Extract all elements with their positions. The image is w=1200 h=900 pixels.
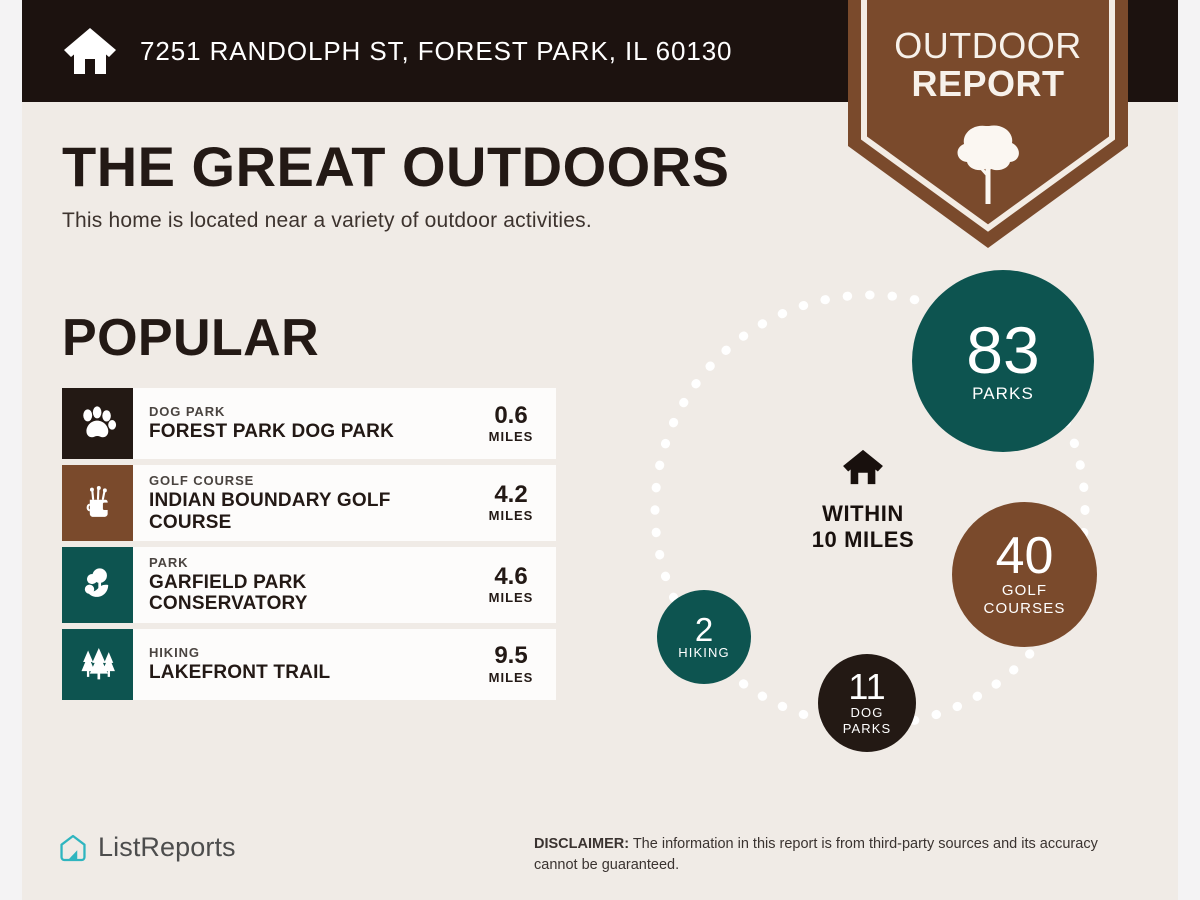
- home-icon: [778, 448, 948, 491]
- list-item-distance-value: 4.2: [480, 482, 542, 507]
- list-item-name: GARFIELD PARK CONSERVATORY: [149, 572, 470, 615]
- list-item[interactable]: GOLF COURSE INDIAN BOUNDARY GOLF COURSE …: [62, 465, 556, 541]
- title-block: THE GREAT OUTDOORS This home is located …: [62, 138, 730, 233]
- list-item-category: PARK: [149, 555, 470, 571]
- stat-label: HIKING: [678, 646, 729, 660]
- badge-line1: OUTDOOR: [894, 25, 1082, 66]
- stat-value: 40: [996, 532, 1054, 581]
- disclaimer-label: DISCLAIMER:: [534, 836, 629, 852]
- center-label-line1: WITHIN: [778, 501, 948, 527]
- stat-label-line2: COURSES: [984, 601, 1066, 617]
- stat-bubble-golf-courses[interactable]: 40 GOLF COURSES: [952, 502, 1097, 647]
- list-item-icon-tile: [62, 629, 133, 700]
- list-item-distance-unit: MILES: [480, 508, 542, 523]
- page-subtitle: This home is located near a variety of o…: [62, 209, 730, 233]
- list-item-name: INDIAN BOUNDARY GOLF COURSE: [149, 490, 470, 533]
- stat-value: 11: [848, 670, 885, 704]
- list-item-name: FOREST PARK DOG PARK: [149, 421, 394, 442]
- list-item-icon-tile: [62, 465, 133, 541]
- stat-bubble-dog-parks[interactable]: 11 DOG PARKS: [818, 654, 916, 752]
- badge-line2: REPORT: [911, 63, 1064, 104]
- list-item-body: DOG PARK FOREST PARK DOG PARK 0.6 MILES: [133, 388, 556, 459]
- disclaimer: DISCLAIMER: The information in this repo…: [534, 834, 1134, 876]
- park-trees-icon: [79, 568, 117, 602]
- list-item-distance: 4.2 MILES: [480, 482, 542, 523]
- stat-value: 2: [695, 614, 713, 645]
- list-item[interactable]: PARK GARFIELD PARK CONSERVATORY 4.6 MILE…: [62, 547, 556, 623]
- list-item-distance-value: 4.6: [480, 564, 542, 589]
- list-item-distance: 4.6 MILES: [480, 564, 542, 605]
- header-content: 7251 RANDOLPH ST, FOREST PARK, IL 60130: [62, 0, 732, 102]
- pine-trees-icon: [79, 647, 117, 682]
- stat-label-line1: DOG: [851, 706, 884, 720]
- list-item-icon-tile: [62, 388, 133, 459]
- list-item-icon-tile: [62, 547, 133, 623]
- list-item-body: HIKING LAKEFRONT TRAIL 9.5 MILES: [133, 629, 556, 700]
- list-item-category: HIKING: [149, 645, 330, 661]
- list-item-body: PARK GARFIELD PARK CONSERVATORY 4.6 MILE…: [133, 547, 556, 623]
- list-item[interactable]: HIKING LAKEFRONT TRAIL 9.5 MILES: [62, 629, 556, 700]
- list-item-distance: 9.5 MILES: [480, 643, 542, 684]
- stat-bubble-hiking[interactable]: 2 HIKING: [657, 590, 751, 684]
- page-title: THE GREAT OUTDOORS: [62, 138, 730, 197]
- listreports-wordmark: ListReports: [98, 832, 236, 863]
- popular-heading: POPULAR: [62, 308, 319, 368]
- property-address: 7251 RANDOLPH ST, FOREST PARK, IL 60130: [140, 36, 732, 67]
- list-item[interactable]: DOG PARK FOREST PARK DOG PARK 0.6 MILES: [62, 388, 556, 459]
- stats-diagram: 83 PARKS 40 GOLF COURSES 11 DOG PARKS 2 …: [600, 262, 1160, 782]
- list-item-body: GOLF COURSE INDIAN BOUNDARY GOLF COURSE …: [133, 465, 556, 541]
- center-label-line2: 10 MILES: [778, 527, 948, 553]
- stat-label-line2: PARKS: [843, 722, 892, 736]
- list-item-category: DOG PARK: [149, 404, 394, 420]
- stat-label: PARKS: [972, 385, 1034, 403]
- infographic-page: 7251 RANDOLPH ST, FOREST PARK, IL 60130 …: [0, 0, 1200, 900]
- list-item-distance-unit: MILES: [480, 670, 542, 685]
- list-item-distance-value: 0.6: [480, 403, 542, 428]
- diagram-center-label: WITHIN 10 MILES: [778, 448, 948, 553]
- home-icon: [62, 26, 118, 76]
- list-item-text: HIKING LAKEFRONT TRAIL: [149, 645, 340, 684]
- outdoor-report-badge: OUTDOOR REPORT: [848, 0, 1128, 248]
- list-item-name: LAKEFRONT TRAIL: [149, 662, 330, 683]
- popular-list: DOG PARK FOREST PARK DOG PARK 0.6 MILES: [62, 388, 556, 706]
- stat-value: 83: [966, 319, 1039, 382]
- list-item-distance-unit: MILES: [480, 429, 542, 444]
- listreports-house-icon: [58, 833, 88, 863]
- list-item-text: DOG PARK FOREST PARK DOG PARK: [149, 404, 404, 443]
- list-item-distance-value: 9.5: [480, 643, 542, 668]
- golf-bag-icon: [80, 485, 116, 521]
- list-item-text: GOLF COURSE INDIAN BOUNDARY GOLF COURSE: [149, 473, 480, 533]
- list-item-distance: 0.6 MILES: [480, 403, 542, 444]
- paw-icon: [79, 406, 117, 442]
- list-item-text: PARK GARFIELD PARK CONSERVATORY: [149, 555, 480, 615]
- listreports-logo[interactable]: ListReports: [58, 832, 236, 863]
- list-item-distance-unit: MILES: [480, 590, 542, 605]
- list-item-category: GOLF COURSE: [149, 473, 470, 489]
- stat-bubble-parks[interactable]: 83 PARKS: [912, 270, 1094, 452]
- stat-label-line1: GOLF: [1002, 583, 1047, 599]
